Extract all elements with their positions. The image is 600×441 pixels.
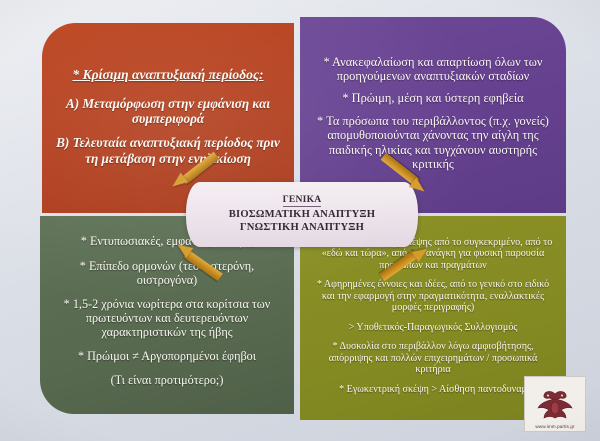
double-headed-eagle-icon [535, 388, 575, 424]
bullet-br-2: * Αφηρημένες έννοιες και ιδέες, από το γ… [310, 279, 556, 314]
slide-photo: * Κρίσιμη αναπτυξιακή περίοδος: Α) Μεταμ… [0, 0, 600, 441]
bullet-tr-2: * Πρώιμη, μέση και ύστερη εφηβεία [312, 91, 554, 105]
bullet-bl-3: * 1,5-2 χρόνια νωρίτερα στα κορίτσια των… [52, 297, 282, 339]
quadrant-top-left-bullets: * Κρίσιμη αναπτυξιακή περίοδος: Α) Μεταμ… [56, 67, 280, 173]
bullet-bl-2: * Επίπεδο ορμονών (τεστοστερόνη, οιστρογ… [52, 259, 282, 287]
quadrant-bottom-left-bullets: * Εντυπωσιακές, εμφανείς αλλαγές * Επίπε… [52, 234, 282, 395]
center-node: ΓΕΝΙΚΑ ΒΙΟΣΩΜΑΤΙΚΗ ΑΝΑΠΤΥΞΗ ΓΝΩΣΤΙΚΗ ΑΝΑ… [186, 182, 418, 247]
quadrant-bottom-right-bullets: * Απελευθέρωση της σκέψης από το συγκεκρ… [310, 237, 556, 402]
bullet-bl-5: (Τι είναι προτιμότερο;) [52, 373, 282, 387]
bullet-br-5: * Εγωκεντρική σκέψη > Αίσθηση παντοδυναμ [310, 384, 556, 396]
bullet-tl-1: * Κρίσιμη αναπτυξιακή περίοδος: [56, 67, 280, 83]
center-line-1: ΒΙΟΣΩΜΑΤΙΚΗ ΑΝΑΠΤΥΞΗ [229, 209, 376, 222]
bullet-bl-4: * Πρώιμοι ≠ Αργοπορημένοι έφηβοι [52, 349, 282, 363]
watermark-logo: www.imm.partis.gr [524, 376, 586, 432]
center-heading: ΓΕΝΙΚΑ [283, 194, 322, 208]
bullet-tr-1: * Ανακεφαλαίωση και απαρτίωση όλων των π… [312, 55, 554, 84]
bullet-tl-2: Α) Μεταμόρφωση στην εμφάνιση και συμπερι… [56, 96, 280, 127]
bullet-br-3: > Υποθετικός-Παραγωγικός Συλλογισμός [310, 322, 556, 334]
bullet-tr-3: * Τα πρόσωπα του περιβάλλοντος (π.χ. γον… [312, 114, 554, 172]
bullet-tl-3: Β) Τελευταία αναπτυξιακή περίοδος πριν τ… [56, 135, 280, 166]
quadrant-top-right-bullets: * Ανακεφαλαίωση και απαρτίωση όλων των π… [312, 55, 554, 178]
center-line-2: ΓΝΩΣΤΙΚΗ ΑΝΑΠΤΥΞΗ [240, 222, 364, 235]
watermark-url: www.imm.partis.gr [535, 424, 574, 429]
bullet-br-4: * Δυσκολία στο περιβάλλον λόγω αμφισβήτη… [310, 341, 556, 376]
